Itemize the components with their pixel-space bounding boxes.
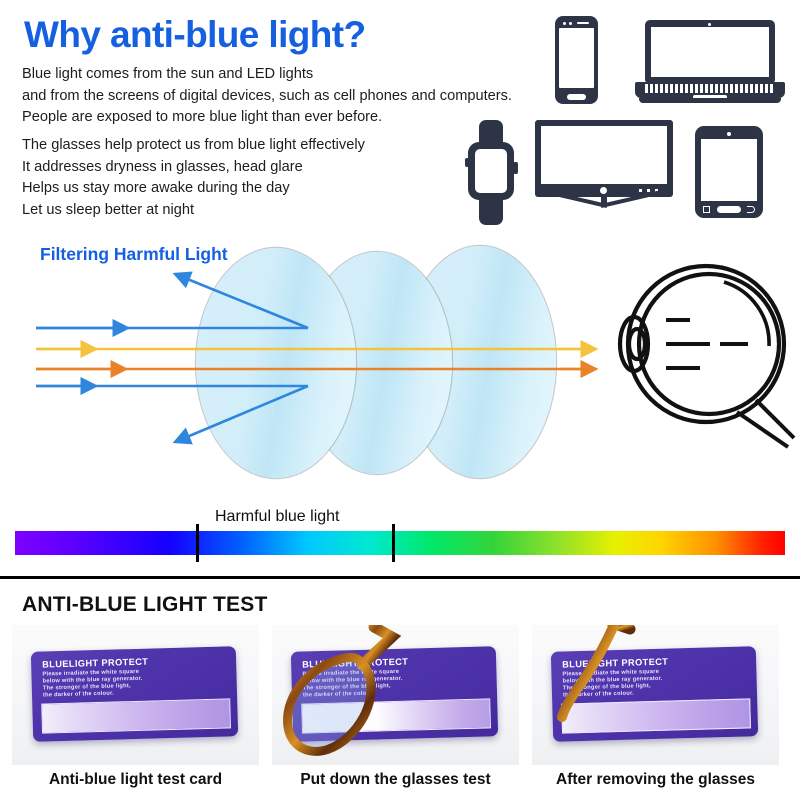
test-section-title: ANTI-BLUE LIGHT TEST xyxy=(22,593,267,617)
watch-band-bottom xyxy=(479,197,503,225)
phone-speaker xyxy=(577,22,589,24)
glasses-temple-arm-2 xyxy=(612,625,630,629)
test-photo-1: BLUELIGHT PROTECT Please irradiate the w… xyxy=(12,625,259,765)
optic-nerve-bottom xyxy=(737,412,788,447)
laptop-icon xyxy=(635,20,785,110)
benefit-line-2: It addresses dryness in glasses, head gl… xyxy=(22,157,365,179)
tablet-icon xyxy=(695,126,763,218)
watch-face xyxy=(475,149,507,193)
bluelight-test-card-3: BLUELIGHT PROTECT Please irradiate the w… xyxy=(551,646,758,742)
watch-side-button xyxy=(465,158,469,167)
phone-screen xyxy=(559,28,594,88)
phone-home-button xyxy=(567,94,586,100)
laptop-webcam xyxy=(708,23,711,26)
bluelight-test-card-2: BLUELIGHT PROTECT Please irradiate the w… xyxy=(291,646,498,742)
device-icon-group xyxy=(440,8,800,223)
card-test-strip-2 xyxy=(301,698,491,733)
blue-ray-reflected-bottom xyxy=(175,386,308,442)
intro-paragraph: Blue light comes from the sun and LED li… xyxy=(22,64,512,129)
eye-icon xyxy=(606,242,796,457)
spectrum-section: Harmful blue light xyxy=(0,500,800,560)
card-title-3: BLUELIGHT PROTECT xyxy=(562,657,668,670)
infographic-page: Why anti-blue light? Blue light comes fr… xyxy=(0,0,800,800)
tv-body xyxy=(535,120,673,197)
anti-blue-light-test-section: ANTI-BLUE LIGHT TEST BLUELIGHT PROTECT P… xyxy=(0,579,800,800)
phone-sensor xyxy=(569,22,572,25)
blue-ray-reflected-top xyxy=(175,274,308,328)
laptop-lid xyxy=(645,20,775,82)
card-title-2: BLUELIGHT PROTECT xyxy=(302,657,408,670)
phone-camera xyxy=(563,22,566,25)
intro-line-1: Blue light comes from the sun and LED li… xyxy=(22,64,512,86)
bluelight-test-card-1: BLUELIGHT PROTECT Please irradiate the w… xyxy=(31,646,238,742)
benefit-line-4: Let us sleep better at night xyxy=(22,200,365,222)
harmful-blue-light-label: Harmful blue light xyxy=(215,508,340,526)
card-body-2: Please irradiate the white square below … xyxy=(302,667,483,700)
card-body-3: Please irradiate the white square below … xyxy=(562,667,743,700)
smartwatch-icon xyxy=(460,120,522,225)
test-photo-3: BLUELIGHT PROTECT Please irradiate the w… xyxy=(532,625,779,765)
optic-nerve-top xyxy=(756,400,794,438)
test-photo-2: BLUELIGHT PROTECT Please irradiate the w… xyxy=(272,625,519,765)
test-panel-glasses-removed: BLUELIGHT PROTECT Please irradiate the w… xyxy=(532,625,779,795)
benefit-line-3: Helps us stay more awake during the day xyxy=(22,178,365,200)
page-title: Why anti-blue light? xyxy=(24,16,366,55)
test-panel-glasses-on: BLUELIGHT PROTECT Please irradiate the w… xyxy=(272,625,519,795)
watch-case xyxy=(468,142,514,200)
laptop-keyboard xyxy=(645,84,775,93)
spectrum-marker-left xyxy=(196,524,199,562)
card-test-strip-3 xyxy=(561,698,751,733)
tablet-camera xyxy=(727,132,731,136)
benefits-paragraph: The glasses help protect us from blue li… xyxy=(22,135,365,221)
laptop-screen xyxy=(651,27,769,77)
card-title-1: BLUELIGHT PROTECT xyxy=(42,657,148,670)
test-panel-card: BLUELIGHT PROTECT Please irradiate the w… xyxy=(12,625,259,795)
tablet-back-button xyxy=(747,206,755,213)
tv-power-led xyxy=(600,187,607,194)
tablet-home-button xyxy=(717,206,741,213)
panel-caption-2: Put down the glasses test xyxy=(272,771,519,789)
visible-light-spectrum-bar xyxy=(15,531,785,555)
watch-crown xyxy=(513,162,518,174)
smartphone-icon xyxy=(555,16,598,104)
television-icon xyxy=(535,120,673,220)
tablet-screen xyxy=(701,139,757,201)
card-body-1: Please irradiate the white square below … xyxy=(42,667,223,700)
card-test-strip-1 xyxy=(41,698,231,733)
lens-diagram: Filtering Harmful Light xyxy=(0,232,800,494)
spectrum-marker-right xyxy=(392,524,395,562)
tablet-menu-button xyxy=(703,206,710,213)
tv-screen xyxy=(541,126,667,184)
benefit-line-1: The glasses help protect us from blue li… xyxy=(22,135,365,157)
panel-caption-3: After removing the glasses xyxy=(532,771,779,789)
laptop-foot xyxy=(639,98,781,103)
intro-line-2: and from the screens of digital devices,… xyxy=(22,86,512,108)
panel-caption-1: Anti-blue light test card xyxy=(12,771,259,789)
intro-line-3: People are exposed to more blue light th… xyxy=(22,107,512,129)
